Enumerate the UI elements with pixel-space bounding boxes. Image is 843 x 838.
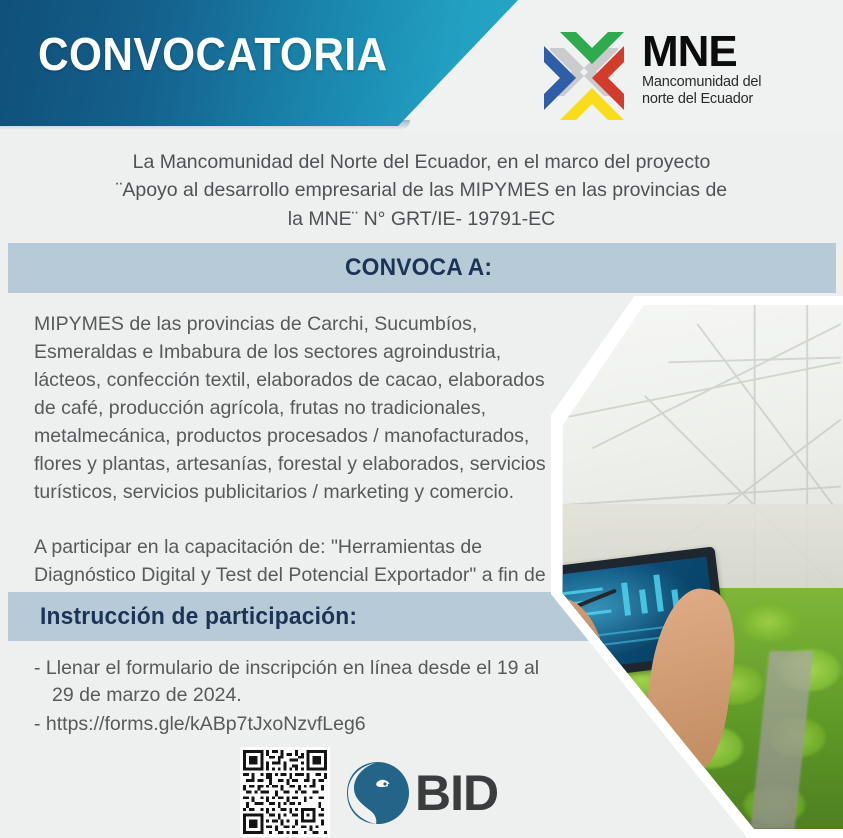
mne-subtitle-line1: Mancomunidad del — [642, 74, 812, 90]
convocatoria-poster: CONVOCATORIA MNE — [0, 0, 843, 838]
mne-wordmark: MNE Mancomunidad del norte del Ecuador — [642, 32, 812, 107]
greenhouse-tablet-photo — [554, 305, 843, 829]
qr-code-inscripcion[interactable] — [240, 747, 330, 837]
mne-subtitle: Mancomunidad del norte del Ecuador — [642, 74, 812, 106]
mne-pinwheel-icon — [530, 22, 638, 122]
convoca-band-title: CONVOCA A: — [345, 243, 492, 293]
mne-acronym: MNE — [642, 32, 812, 72]
mne-subtitle-line2: norte del Ecuador — [642, 91, 812, 107]
convoca-band: CONVOCA A: — [8, 243, 836, 293]
bid-wordmark: BID — [415, 768, 498, 818]
mne-logo: MNE Mancomunidad del norte del Ecuador — [530, 22, 820, 122]
intro-line-1: La Mancomunidad del Norte del Ecuador, e… — [0, 148, 843, 176]
intro-line-2: ¨Apoyo al desarrollo empresarial de las … — [0, 176, 843, 204]
list-item: - Llenar el formulario de inscripción en… — [34, 655, 554, 709]
qr-code-icon — [243, 750, 327, 834]
bid-mark-icon — [345, 760, 411, 826]
poster-header: CONVOCATORIA MNE — [0, 0, 843, 132]
intro-text: La Mancomunidad del Norte del Ecuador, e… — [0, 148, 843, 233]
convoca-paragraph-1: MIPYMES de las provincias de Carchi, Suc… — [34, 310, 546, 507]
poster-footer: BID — [0, 742, 560, 838]
intro-line-3: la MNE¨ N° GRT/IE- 19791-EC — [0, 205, 843, 233]
bid-logo: BID — [345, 760, 545, 826]
page-title: CONVOCATORIA — [38, 27, 388, 81]
instruccion-list: - Llenar el formulario de inscripción en… — [34, 655, 554, 740]
list-item[interactable]: - https://forms.gle/kABp7tJxoNzvfLeg6 — [34, 711, 554, 738]
greenhouse-photo-frame — [545, 296, 843, 838]
instruccion-band-title: Instrucción de participación: — [40, 592, 357, 641]
